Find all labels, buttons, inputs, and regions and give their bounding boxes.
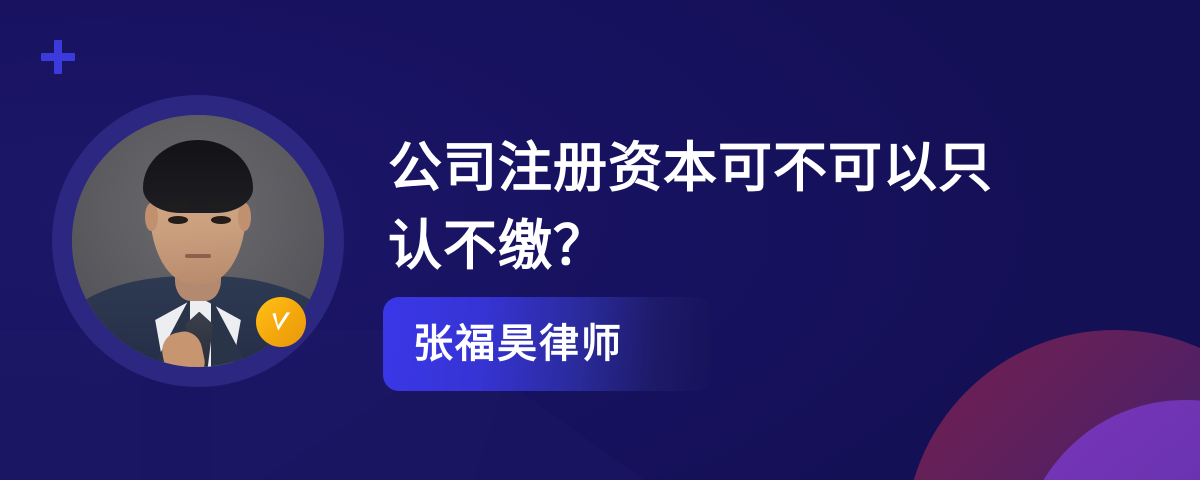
plus-icon xyxy=(41,40,75,74)
page-title: 公司注册资本可不可以只 认不缴？ xyxy=(388,129,1088,285)
avatar xyxy=(52,95,344,387)
lawyer-name-button[interactable]: 张福昊律师 xyxy=(383,297,713,391)
verified-badge-icon xyxy=(256,297,306,347)
banner-root: 公司注册资本可不可以只 认不缴？ 张福昊律师 xyxy=(0,0,1200,480)
lawyer-name-label: 张福昊律师 xyxy=(413,324,623,364)
